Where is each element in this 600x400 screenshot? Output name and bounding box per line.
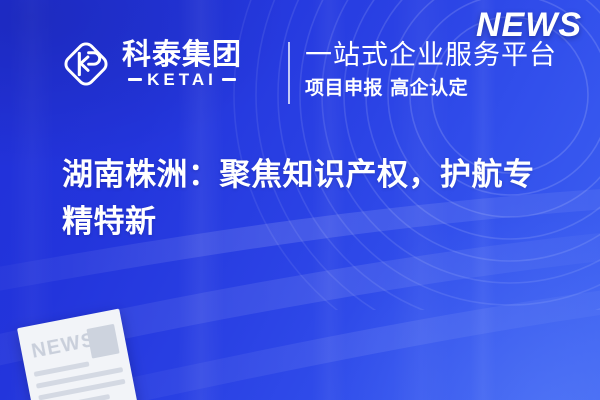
header-tagline: 一站式企业服务平台 项目申报 高企认定 (305, 40, 557, 100)
article-title: 湖南株洲：聚焦知识产权，护航专精特新 (62, 152, 562, 246)
logo-english-name: KETAI (147, 71, 217, 88)
ketai-diamond-logo-icon (60, 38, 112, 90)
logo-chinese-name: 科泰集团 (122, 40, 242, 69)
logo-dash-left (128, 78, 142, 81)
brand-logo[interactable]: 科泰集团 KETAI (60, 38, 242, 90)
tagline-main-text: 一站式企业服务平台 (305, 40, 557, 72)
banner-header: 科泰集团 KETAI 一站式企业服务平台 项目申报 高企认定 NEWS (0, 0, 600, 130)
tagline-sub-text: 项目申报 高企认定 (305, 77, 557, 100)
logo-dash-right (222, 78, 236, 81)
news-label: NEWS (476, 8, 582, 42)
header-divider (288, 42, 290, 104)
news-banner: 科泰集团 KETAI 一站式企业服务平台 项目申报 高企认定 NEWS 湖南株洲… (0, 0, 600, 400)
